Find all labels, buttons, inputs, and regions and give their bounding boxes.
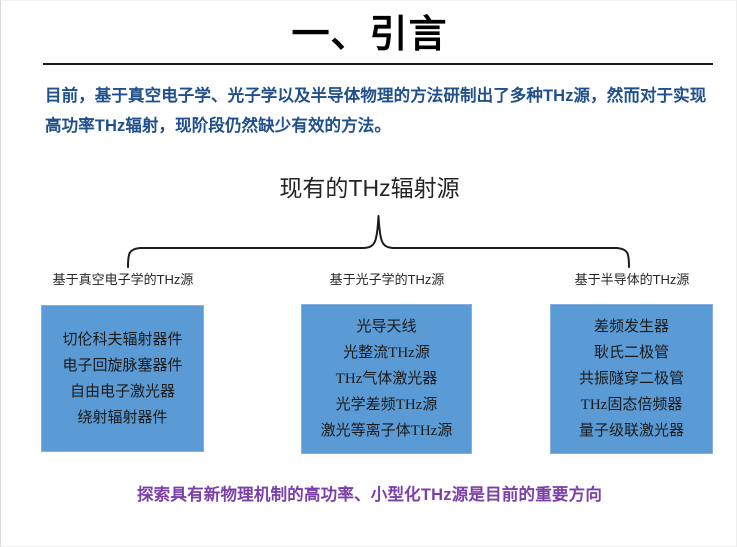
list-item: 光整流THz源: [343, 340, 430, 366]
list-item: 耿氏二极管: [594, 340, 669, 366]
diagram-heading: 现有的THz辐射源: [1, 173, 737, 203]
list-item: 差频发生器: [594, 314, 669, 340]
list-item: 激光等离子体THz源: [321, 418, 453, 444]
category-label-semiconductor: 基于半导体的THz源: [550, 271, 714, 289]
intro-paragraph: 目前，基于真空电子学、光子学以及半导体物理的方法研制出了多种THz源，然而对于实…: [45, 81, 711, 141]
source-box-semiconductor: 差频发生器 耿氏二极管 共振隧穿二极管 THz固态倍频器 量子级联激光器: [550, 304, 713, 454]
list-item: 绕射辐射器件: [77, 405, 167, 431]
list-item: 共振隧穿二极管: [579, 366, 684, 392]
slide-canvas: 一、引言 目前，基于真空电子学、光子学以及半导体物理的方法研制出了多种THz源，…: [0, 0, 737, 547]
list-item: 自由电子激光器: [70, 379, 175, 405]
category-label-photonics: 基于光子学的THz源: [301, 271, 473, 289]
list-item: 电子回旋脉塞器件: [62, 353, 182, 379]
list-item: 光导天线: [356, 314, 416, 340]
category-label-vacuum-electronics: 基于真空电子学的THz源: [41, 271, 205, 289]
conclusion-text: 探索具有新物理机制的高功率、小型化THz源是目前的重要方向: [1, 483, 737, 507]
page-title: 一、引言: [1, 13, 737, 57]
list-item: THz固态倍频器: [581, 392, 683, 418]
source-box-vacuum-electronics: 切伦科夫辐射器件 电子回旋脉塞器件 自由电子激光器 绕射辐射器件: [41, 305, 204, 452]
list-item: THz气体激光器: [336, 366, 438, 392]
source-box-photonics: 光导天线 光整流THz源 THz气体激光器 光学差频THz源 激光等离子体THz…: [301, 304, 472, 454]
list-item: 光学差频THz源: [336, 392, 438, 418]
list-item: 量子级联激光器: [579, 418, 684, 444]
list-item: 切伦科夫辐射器件: [62, 327, 182, 353]
brace-connector: [121, 213, 636, 269]
title-divider: [43, 63, 713, 65]
brace-icon: [121, 213, 636, 269]
